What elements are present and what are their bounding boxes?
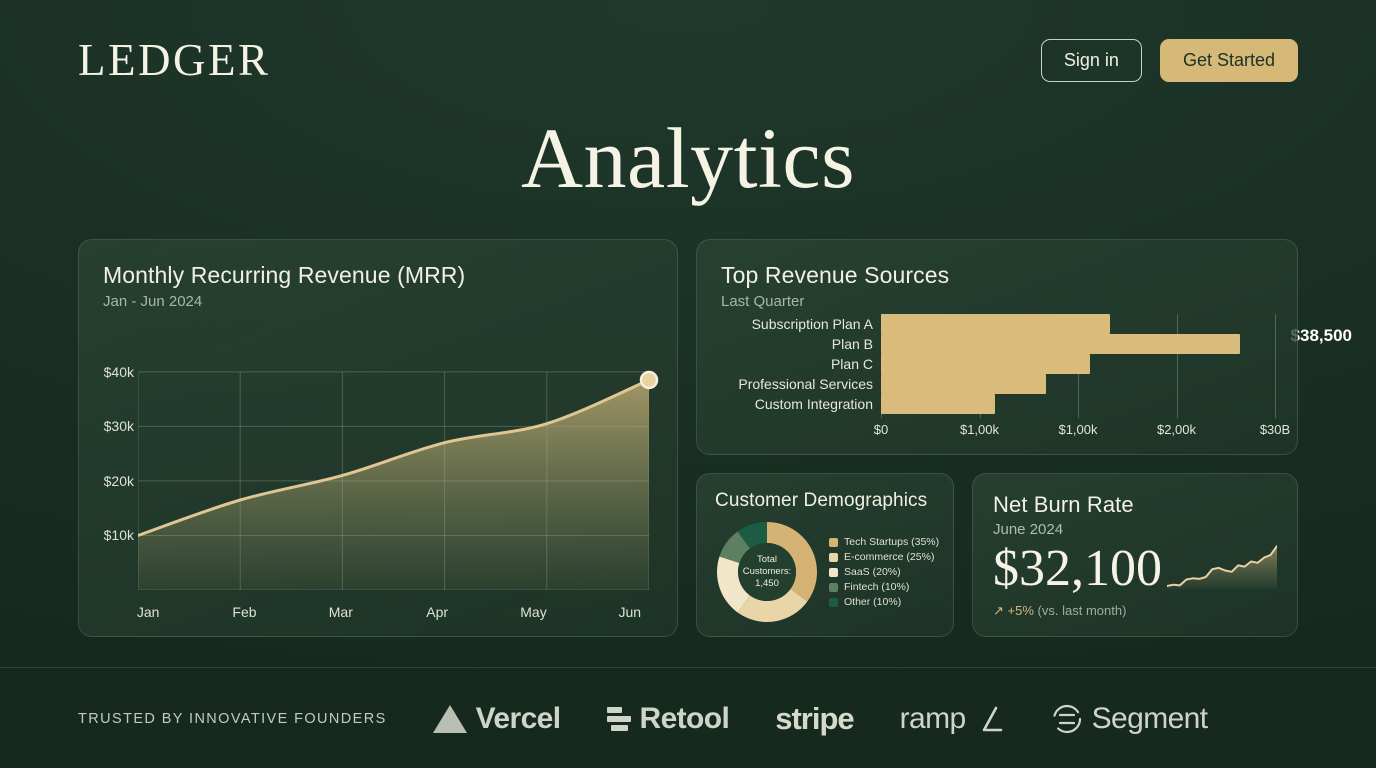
legend-swatch-icon [829,568,838,577]
donut-center-line2: Customers: [743,566,792,577]
legend-label: Tech Startups (35%) [844,536,939,548]
legend-label: Other (10%) [844,596,901,608]
bar-fill [881,314,1110,334]
bar-track [881,394,1275,414]
legend-swatch-icon [829,598,838,607]
bar-x-tick: $2,00k [1157,422,1196,437]
burn-amount: $32,100 [993,542,1162,597]
mrr-x-tick: Jan [100,604,196,624]
mrr-x-tick: Apr [389,604,485,624]
bar-x-tick: $1,00k [1058,422,1097,437]
bar-gridline [1275,314,1276,418]
mrr-highlight-value: $38,500 [1291,326,1352,346]
brand-retool-label: Retool [640,702,730,736]
mrr-last-point-marker[interactable] [641,372,657,388]
brand-ramp-label: ramp [900,702,966,736]
ramp-mark-icon [975,705,1005,733]
get-started-button[interactable]: Get Started [1160,39,1298,82]
brand-segment-label: Segment [1092,702,1208,736]
bar-fill [881,334,1240,354]
demographics-legend: Tech Startups (35%)E-commerce (25%)SaaS … [829,536,939,608]
mrr-y-tick: $10k [104,527,134,543]
bar-row-label: Professional Services [721,376,881,392]
bar-row-label: Plan C [721,356,881,372]
bar-row[interactable]: Plan B [721,334,1275,354]
brand-stripe-label: stripe [775,701,853,737]
burn-delta-arrow-icon: ↗ [993,603,1004,618]
bar-x-tick: $30B [1260,422,1290,437]
mrr-x-tick: Mar [293,604,389,624]
bar-row-label: Plan B [721,336,881,352]
bar-chart-rows: Subscription Plan APlan BPlan CProfessio… [721,314,1275,414]
sign-in-button[interactable]: Sign in [1041,39,1142,82]
revenue-sources-bar-chart: Subscription Plan APlan BPlan CProfessio… [721,314,1275,440]
brand-vercel-label: Vercel [476,702,561,736]
burn-card-subtitle: June 2024 [993,521,1277,538]
brand-segment[interactable]: Segment [1051,702,1208,736]
mrr-y-axis: $40k$30k$20k$10k [90,338,134,603]
burn-sparkline [1167,543,1277,589]
bar-fill [881,394,995,414]
mrr-x-tick: May [485,604,581,624]
mrr-y-tick: $40k [104,364,134,380]
card-net-burn-rate: Net Burn Rate June 2024 $32,100 ↗ +5% (v… [972,473,1298,637]
footer-divider [0,667,1376,668]
brand-retool[interactable]: Retool [607,702,730,736]
sources-card-title: Top Revenue Sources [721,262,1273,289]
mrr-x-tick: Feb [196,604,292,624]
burn-card-title: Net Burn Rate [993,492,1277,518]
bar-track [881,374,1275,394]
demographics-donut-chart: Total Customers: 1,450 [715,520,819,624]
demographics-body: Total Customers: 1,450 Tech Startups (35… [715,520,935,624]
bar-track [881,314,1275,334]
bar-fill [881,374,1046,394]
mrr-x-axis: JanFebMarAprMayJun [100,604,678,624]
bar-row[interactable]: Subscription Plan A [721,314,1275,334]
bar-x-tick: $1,00k [960,422,999,437]
mrr-marker-layer [138,350,649,590]
sources-card-subtitle: Last Quarter [721,293,1273,310]
bar-track [881,334,1275,354]
burn-delta-value: +5% [1008,603,1034,618]
burn-value-row: $32,100 [993,542,1277,597]
bar-chart-x-axis: $0$1,00k$1,00k$2,00k$30B [881,422,1275,440]
retool-blocks-icon [607,707,631,731]
legend-swatch-icon [829,583,838,592]
partner-logos: Vercel Retool stripe ramp Segm [433,701,1208,737]
legend-item[interactable]: Fintech (10%) [829,581,939,593]
header-actions: Sign in Get Started [1041,39,1298,82]
triangle-icon [433,705,467,733]
brand-logo[interactable]: LEDGER [78,38,270,83]
card-top-revenue-sources: Top Revenue Sources Last Quarter Subscri… [696,239,1298,455]
bar-row-label: Custom Integration [721,396,881,412]
bar-row[interactable]: Custom Integration [721,394,1275,414]
card-customer-demographics: Customer Demographics Total Customers: 1… [696,473,954,637]
bar-x-tick: $0 [874,422,888,437]
bar-row[interactable]: Professional Services [721,374,1275,394]
segment-circle-icon [1051,703,1083,735]
donut-center-line3: 1,450 [755,578,779,589]
site-header: LEDGER Sign in Get Started [0,0,1376,120]
burn-delta: ↗ +5% (vs. last month) [993,603,1277,619]
legend-swatch-icon [829,538,838,547]
bar-row[interactable]: Plan C [721,354,1275,374]
bar-track [881,354,1275,374]
mrr-x-tick: Jun [582,604,678,624]
mrr-y-tick: $20k [104,473,134,489]
legend-label: Fintech (10%) [844,581,909,593]
page-title: Analytics [0,108,1376,208]
demographics-card-title: Customer Demographics [715,490,935,512]
legend-label: E-commerce (25%) [844,551,934,563]
mrr-card-subtitle: Jan - Jun 2024 [103,293,653,310]
bar-row-label: Subscription Plan A [721,316,881,332]
legend-item[interactable]: Other (10%) [829,596,939,608]
legend-item[interactable]: Tech Startups (35%) [829,536,939,548]
legend-swatch-icon [829,553,838,562]
analytics-page: LEDGER Sign in Get Started Analytics Mon… [0,0,1376,768]
mrr-y-tick: $30k [104,418,134,434]
brand-vercel[interactable]: Vercel [433,702,561,736]
brand-ramp[interactable]: ramp [900,702,1005,736]
legend-item[interactable]: E-commerce (25%) [829,551,939,563]
mrr-card-title: Monthly Recurring Revenue (MRR) [103,262,653,289]
footer: TRUSTED BY INNOVATIVE FOUNDERS Vercel Re… [78,690,1316,748]
donut-center-line1: Total [757,554,777,565]
bar-fill [881,354,1090,374]
legend-item[interactable]: SaaS (20%) [829,566,939,578]
burn-delta-note: (vs. last month) [1038,603,1127,618]
donut-center-label: Total Customers: 1,450 [738,543,796,601]
brand-stripe[interactable]: stripe [775,701,853,737]
trusted-by-label: TRUSTED BY INNOVATIVE FOUNDERS [78,711,387,727]
legend-label: SaaS (20%) [844,566,901,578]
